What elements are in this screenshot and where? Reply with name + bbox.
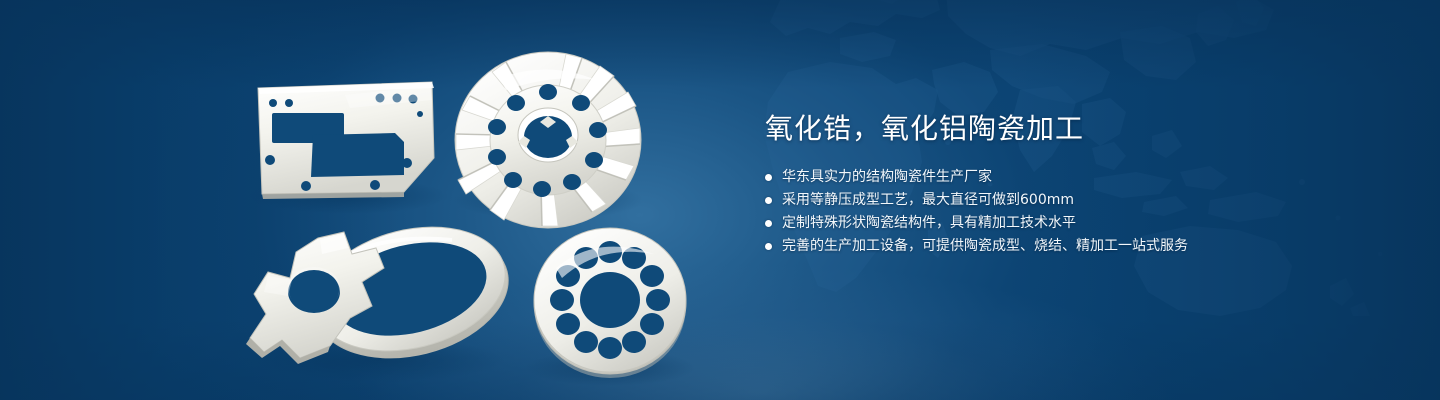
list-item-label: 华东具实力的结构陶瓷件生产厂家 [782,166,992,189]
list-item-label: 定制特殊形状陶瓷结构件，具有精加工技术水平 [782,212,1076,235]
list-item: 定制特殊形状陶瓷结构件，具有精加工技术水平 [765,212,1385,235]
list-item-label: 采用等静压成型工艺，最大直径可做到600mm [782,189,1074,212]
bullet-dot-icon [765,197,772,204]
hero-banner: 氧化锆，氧化铝陶瓷加工 华东具实力的结构陶瓷件生产厂家 采用等静压成型工艺，最大… [0,0,1440,400]
list-item: 完善的生产加工设备，可提供陶瓷成型、烧结、精加工一站式服务 [765,235,1385,258]
bullet-dot-icon [765,220,772,227]
banner-text-block: 氧化锆，氧化铝陶瓷加工 华东具实力的结构陶瓷件生产厂家 采用等静压成型工艺，最大… [765,112,1385,258]
list-item: 采用等静压成型工艺，最大直径可做到600mm [765,189,1385,212]
bullet-dot-icon [765,174,772,181]
page-title: 氧化锆，氧化铝陶瓷加工 [765,112,1385,146]
list-item: 华东具实力的结构陶瓷件生产厂家 [765,166,1385,189]
list-item-label: 完善的生产加工设备，可提供陶瓷成型、烧结、精加工一站式服务 [782,235,1188,258]
bullet-dot-icon [765,243,772,250]
feature-list: 华东具实力的结构陶瓷件生产厂家 采用等静压成型工艺，最大直径可做到600mm 定… [765,166,1385,258]
